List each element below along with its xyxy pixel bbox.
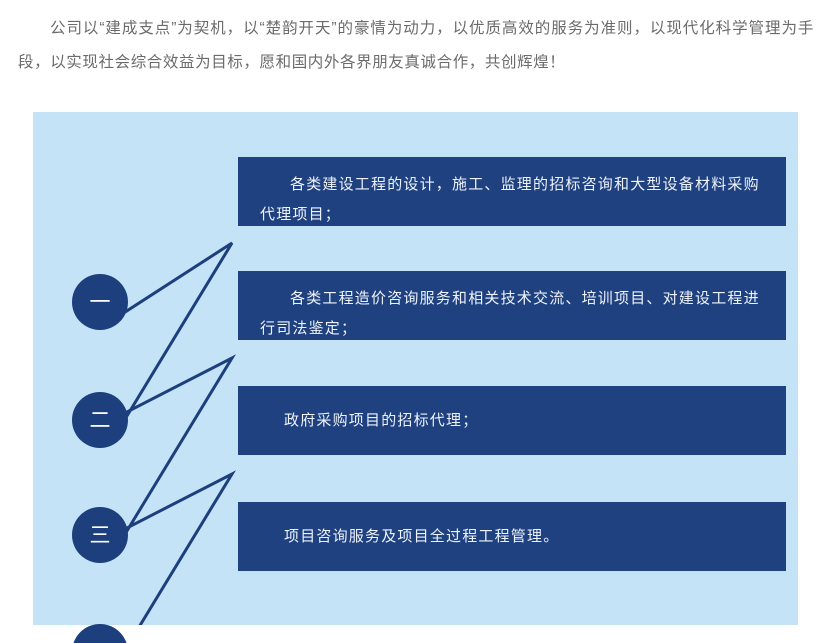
scope-item-3[interactable]: 政府采购项目的招标代理； <box>238 386 786 455</box>
scope-item-1-text: 各类建设工程的设计，施工、监理的招标咨询和大型设备材料采购代理项目； <box>260 170 764 230</box>
intro-paragraph: 公司以“建成支点”为契机，以“楚韵开天”的豪情为动力，以优质高效的服务为准则，以… <box>18 12 814 80</box>
step-marker-1-label: 一 <box>90 292 111 313</box>
step-marker-3-label: 三 <box>90 525 111 546</box>
scope-item-1[interactable]: 各类建设工程的设计，施工、监理的招标咨询和大型设备材料采购代理项目； <box>238 157 786 226</box>
scope-item-4[interactable]: 项目咨询服务及项目全过程工程管理。 <box>238 502 786 571</box>
scope-item-3-text: 政府采购项目的招标代理； <box>260 406 478 436</box>
business-scope-panel: 一 二 三 四 各类建设工程的设计，施工、监理的招标咨询和大型设备材料采购代理项… <box>33 112 798 625</box>
step-marker-3[interactable]: 三 <box>72 507 128 563</box>
scope-item-4-text: 项目咨询服务及项目全过程工程管理。 <box>260 522 559 552</box>
step-marker-1[interactable]: 一 <box>72 274 128 330</box>
scope-item-2[interactable]: 各类工程造价咨询服务和相关技术交流、培训项目、对建设工程进行司法鉴定； <box>238 271 786 340</box>
step-marker-2-label: 二 <box>90 410 111 431</box>
step-marker-2[interactable]: 二 <box>72 392 128 448</box>
scope-item-2-text: 各类工程造价咨询服务和相关技术交流、培训项目、对建设工程进行司法鉴定； <box>260 284 764 344</box>
step-marker-4[interactable]: 四 <box>72 624 128 643</box>
page-root: 公司以“建成支点”为契机，以“楚韵开天”的豪情为动力，以优质高效的服务为准则，以… <box>0 0 831 643</box>
